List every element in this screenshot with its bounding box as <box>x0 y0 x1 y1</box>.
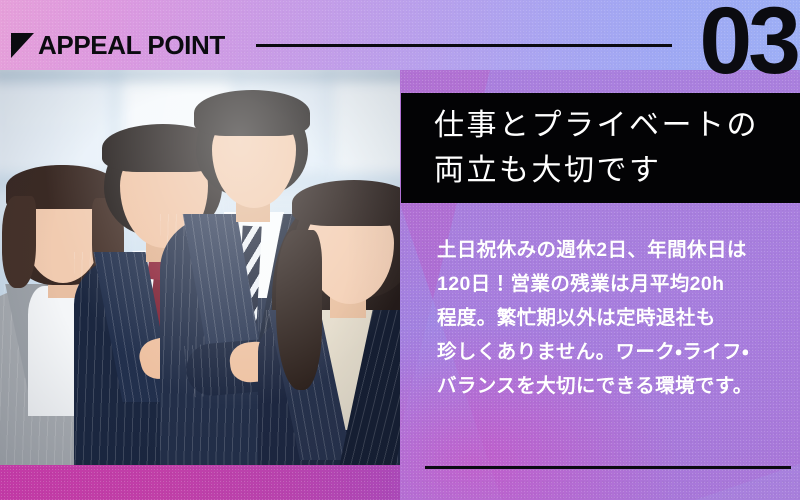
magenta-footer-band <box>0 465 400 500</box>
appeal-point-slide: APPEAL POINT 03 <box>0 0 800 500</box>
header-bar: APPEAL POINT <box>0 0 800 70</box>
bottom-rule <box>425 466 791 469</box>
team-photo <box>0 70 400 465</box>
headline-title: 仕事とプライベートの 両立も大切です <box>434 103 759 193</box>
body-paragraph: 土日祝休みの週休2日、年間休日は 120日！営業の残業は月平均20h 程度。繁忙… <box>437 233 797 403</box>
appeal-point-label: APPEAL POINT <box>38 31 225 59</box>
triangle-flag-icon <box>11 33 34 58</box>
magenta-grain-texture <box>0 465 400 500</box>
title-band: 仕事とプライベートの 両立も大切です <box>401 93 800 203</box>
header-rule <box>256 44 672 47</box>
section-number: 03 <box>699 0 797 91</box>
